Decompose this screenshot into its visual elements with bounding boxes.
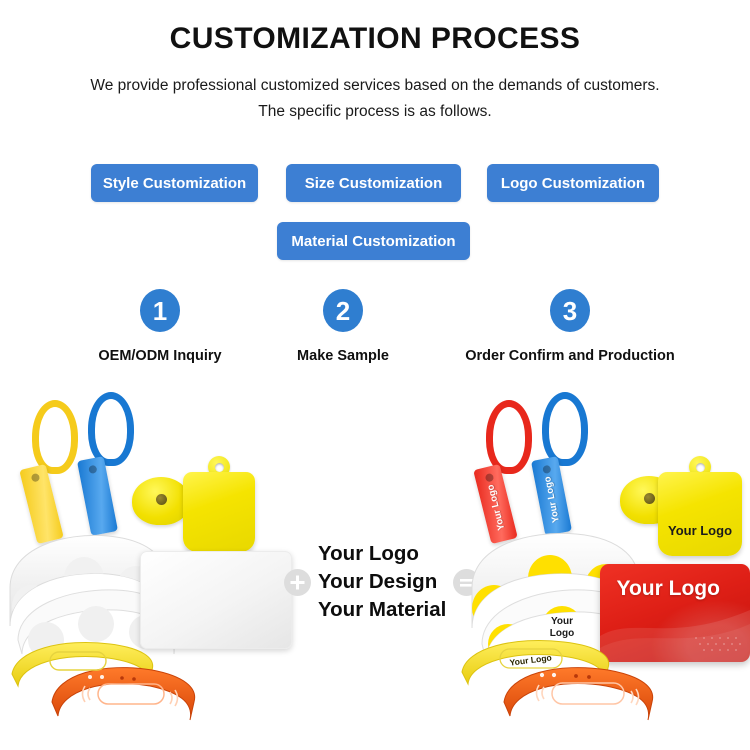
option-button-logo-customization[interactable]: Logo Customization [487, 164, 659, 202]
option-button-material-customization[interactable]: Material Customization [277, 222, 470, 260]
paper-wristband-label-line-1: Your [551, 616, 573, 627]
blank-silicone-wristbands [6, 636, 206, 746]
silicone-orange-label: Your Logo [567, 689, 609, 699]
option-button-size-customization[interactable]: Size Customization [286, 164, 461, 202]
customization-slogan: Your Logo Your Design Your Material [318, 540, 458, 624]
seal-hole [88, 465, 97, 474]
product-composition: Your Logo Your Design Your Material Your… [0, 386, 750, 750]
blank-plastic-card [140, 551, 292, 649]
step-number-badge-3: 3 [550, 289, 590, 332]
silicone-wristbands-svg [6, 636, 206, 746]
page-subtitle: We provide professional customized servi… [0, 73, 750, 125]
seal-label-red: Your Logo [485, 483, 507, 531]
seal-loop [88, 392, 134, 466]
plus-circle-icon [284, 569, 311, 596]
page-title: CUSTOMIZATION PROCESS [0, 22, 750, 56]
process-step-2: 2 Make Sample [272, 289, 414, 364]
customization-process-page: CUSTOMIZATION PROCESS We provide profess… [0, 0, 750, 750]
seal-label-blue: Your Logo [542, 475, 562, 523]
slogan-line-2: Your Design [318, 568, 458, 596]
slogan-line-3: Your Material [318, 596, 458, 624]
option-button-style-customization[interactable]: Style Customization [91, 164, 258, 202]
process-step-3: 3 Order Confirm and Production [448, 289, 692, 364]
seal-hole [484, 473, 494, 483]
seal-hole [542, 465, 551, 474]
seal-hole [30, 473, 40, 483]
seal-loop [486, 400, 532, 474]
branded-ear-tag: Your Logo [658, 456, 742, 556]
seal-body [77, 456, 118, 536]
blank-button-ear-tag [132, 477, 190, 525]
plastic-card-label: Your Logo [617, 577, 720, 601]
subtitle-line-1: We provide professional customized servi… [90, 77, 659, 94]
step-label-1: OEM/ODM Inquiry [98, 348, 221, 364]
slogan-line-1: Your Logo [318, 540, 458, 568]
blank-ear-tag [183, 456, 255, 552]
seal-loop [32, 400, 78, 474]
branded-silicone-wristbands: Your Logo Your Logo [456, 634, 666, 746]
seal-body: Your Logo [531, 456, 572, 536]
step-number-badge-1: 1 [140, 289, 180, 332]
step-label-3: Order Confirm and Production [465, 348, 674, 364]
subtitle-line-2: The specific process is as follows. [258, 103, 491, 120]
process-step-1: 1 OEM/ODM Inquiry [56, 289, 264, 364]
step-label-2: Make Sample [297, 348, 389, 364]
seal-loop [542, 392, 588, 466]
branded-products-group: Your Logo Your Logo Your Logo [452, 386, 750, 750]
ear-tag-label: Your Logo [668, 523, 732, 538]
blank-products-group [0, 386, 300, 750]
silicone-wristbands-svg: Your Logo Your Logo [456, 634, 666, 746]
step-number-badge-2: 2 [323, 289, 363, 332]
ear-tag-panel: Your Logo [658, 472, 742, 556]
ear-tag-panel [183, 472, 255, 552]
